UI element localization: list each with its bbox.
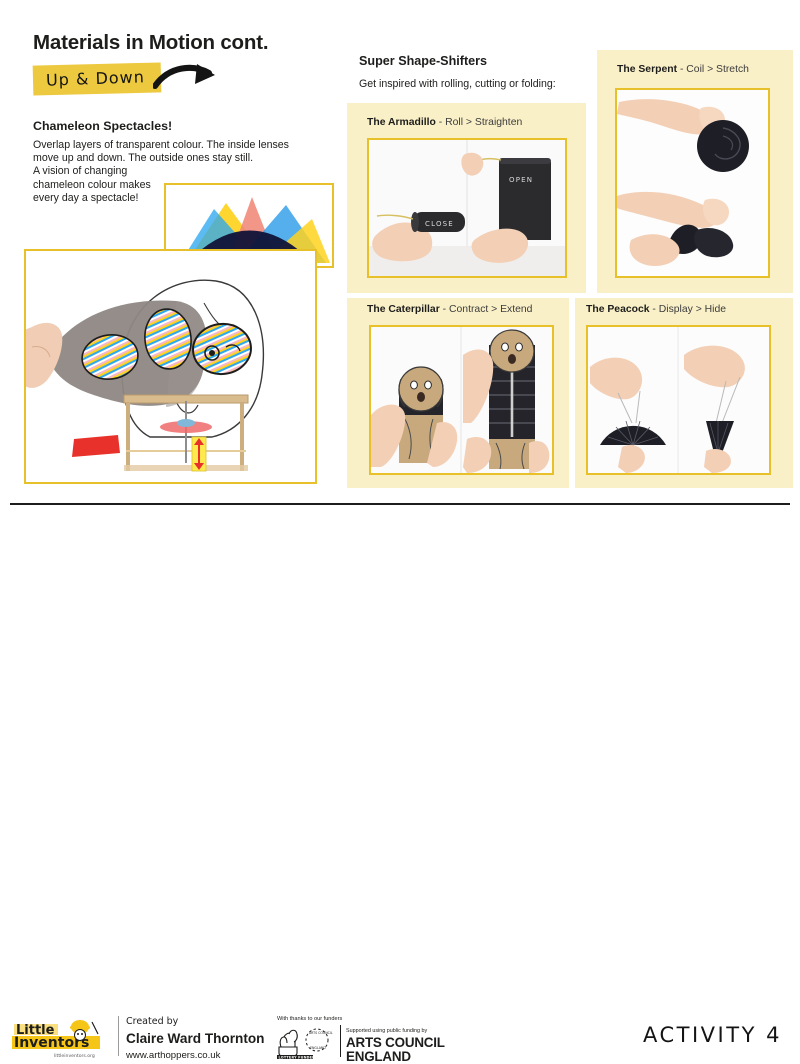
card-peacock-action: - Display > Hide xyxy=(652,304,726,315)
caterpillar-photo-graphic xyxy=(371,327,552,473)
page-title: Materials in Motion cont. xyxy=(33,31,268,55)
serpent-photo-graphic xyxy=(617,90,768,276)
svg-text:ENGLAND: ENGLAND xyxy=(310,1046,326,1050)
arts-council-note: Supported using public funding by xyxy=(346,1028,427,1034)
worksheet-page: Materials in Motion cont. Up & Down Cham… xyxy=(0,0,800,566)
card-peacock: The Peacock - Display > Hide xyxy=(575,298,793,488)
description-narrow: A vision of changing chameleon colour ma… xyxy=(33,165,168,205)
card-armadillo: The Armadillo - Roll > Straighten CLOSE … xyxy=(347,103,586,293)
lottery-funded-logo-graphic: ARTS COUNCIL ENGLAND LOTTERY FUNDED xyxy=(277,1025,335,1059)
peacock-photo-graphic xyxy=(588,327,769,473)
svg-text:ARTS COUNCIL: ARTS COUNCIL xyxy=(309,1031,333,1035)
card-armadillo-action: - Roll > Straighten xyxy=(439,117,522,128)
armadillo-photo-graphic: CLOSE OPEN xyxy=(369,140,565,276)
card-serpent-name: The Serpent xyxy=(617,64,677,75)
footer-divider-2 xyxy=(340,1025,341,1057)
little-inventors-logo-graphic: Little Inventors littleinventors.org xyxy=(12,1016,112,1058)
arts-council-line-1: ARTS COUNCIL xyxy=(346,1035,445,1050)
card-armadillo-label: The Armadillo - Roll > Straighten xyxy=(367,117,522,128)
chameleon-heading: Chameleon Spectacles! xyxy=(33,119,172,133)
card-caterpillar-name: The Caterpillar xyxy=(367,304,440,315)
card-caterpillar-photo xyxy=(369,325,554,475)
section-subheading: Get inspired with rolling, cutting or fo… xyxy=(359,78,556,90)
card-caterpillar-action: - Contract > Extend xyxy=(443,304,533,315)
curved-arrow-icon xyxy=(153,60,225,105)
card-peacock-photo xyxy=(586,325,771,475)
activity-label: ACTIVITY 4 xyxy=(643,1023,782,1047)
footer-divider-1 xyxy=(118,1016,119,1056)
description-wide: Overlap layers of transparent colour. Th… xyxy=(33,139,289,164)
card-peacock-label: The Peacock - Display > Hide xyxy=(586,304,726,315)
created-by-label: Created by xyxy=(126,1016,178,1027)
creator-name: Claire Ward Thornton xyxy=(126,1031,264,1046)
lottery-funded-label: LOTTERY FUNDED xyxy=(279,1056,316,1059)
footer: Little Inventors littleinventors.org Cre… xyxy=(0,504,800,566)
card-armadillo-photo: CLOSE OPEN xyxy=(367,138,567,278)
card-serpent-photo xyxy=(615,88,770,278)
section-heading: Super Shape-Shifters xyxy=(359,54,487,68)
card-caterpillar: The Caterpillar - Contract > Extend xyxy=(347,298,569,488)
up-and-down-callout: Up & Down xyxy=(33,62,233,98)
svg-text:OPEN: OPEN xyxy=(509,176,533,184)
card-serpent: The Serpent - Coil > Stretch xyxy=(597,50,793,293)
card-serpent-action: - Coil > Stretch xyxy=(680,64,749,75)
card-peacock-name: The Peacock xyxy=(586,304,650,315)
highlight-label: Up & Down xyxy=(46,67,145,89)
little-inventors-logo[interactable]: Little Inventors littleinventors.org xyxy=(12,1016,112,1058)
card-caterpillar-label: The Caterpillar - Contract > Extend xyxy=(367,304,532,315)
svg-text:littleinventors.org: littleinventors.org xyxy=(54,1053,95,1058)
funders-note: With thanks to our funders xyxy=(277,1016,342,1022)
chameleon-spectacles-photo xyxy=(24,249,317,484)
arts-council-line-2: ENGLAND xyxy=(346,1049,411,1064)
lottery-funded-logo: ARTS COUNCIL ENGLAND LOTTERY FUNDED xyxy=(277,1025,335,1059)
creator-url[interactable]: www.arthoppers.co.uk xyxy=(126,1050,220,1061)
svg-text:CLOSE: CLOSE xyxy=(425,220,454,228)
chameleon-spectacles-graphic xyxy=(26,251,315,482)
card-serpent-label: The Serpent - Coil > Stretch xyxy=(617,64,749,75)
up-down-arrow-marker xyxy=(192,437,206,471)
card-armadillo-name: The Armadillo xyxy=(367,117,436,128)
